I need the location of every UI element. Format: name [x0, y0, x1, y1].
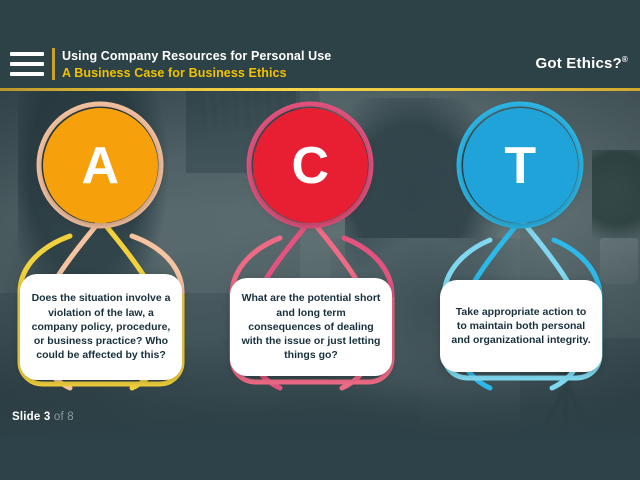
- hamburger-bar-2: [10, 62, 44, 66]
- act-callout-text-ask: Does the situation involve a violation o…: [31, 291, 171, 362]
- header-divider: [52, 48, 55, 80]
- header-bar: Using Company Resources for Personal Use…: [0, 0, 640, 88]
- act-pin-ask[interactable]: A Does the situation involve a violation…: [8, 96, 208, 406]
- act-letter-circle-a: A: [43, 108, 158, 223]
- progress-line: [0, 88, 640, 91]
- hamburger-bar-1: [10, 52, 44, 56]
- slide-current: Slide 3: [12, 411, 50, 423]
- act-callout-ask: Does the situation involve a violation o…: [20, 274, 182, 380]
- page-subtitle: A Business Case for Business Ethics: [62, 65, 331, 81]
- brand-logo: Got Ethics?®: [536, 55, 628, 72]
- slide-canvas: A Does the situation involve a violation…: [0, 0, 640, 480]
- act-callout-text-consider: What are the potential short and long te…: [241, 291, 381, 362]
- slide-total-value: of 8: [54, 411, 74, 423]
- registered-trademark-icon: ®: [622, 55, 628, 64]
- slide-counter: Slide 3 of 8: [12, 411, 74, 423]
- footer-bar: [0, 442, 640, 480]
- act-callout-consider: What are the potential short and long te…: [230, 278, 392, 376]
- act-callout-take-action: Take appropriate action to to maintain b…: [440, 280, 602, 372]
- act-letter-t: T: [504, 140, 536, 192]
- act-letter-circle-t: T: [463, 108, 578, 223]
- act-callout-text-take-action: Take appropriate action to to maintain b…: [451, 305, 591, 348]
- page-title: Using Company Resources for Personal Use: [62, 48, 331, 64]
- act-letter-c: C: [291, 140, 329, 192]
- header-text-group: Using Company Resources for Personal Use…: [62, 48, 331, 81]
- act-letter-circle-c: C: [253, 108, 368, 223]
- hamburger-bar-3: [10, 72, 44, 76]
- hamburger-menu-icon[interactable]: [10, 52, 44, 76]
- brand-name: Got Ethics?: [536, 55, 622, 72]
- act-pin-take-action[interactable]: T Take appropriate action to to maintain…: [428, 96, 628, 406]
- act-letter-a: A: [81, 140, 119, 192]
- act-pin-consider[interactable]: C What are the potential short and long …: [218, 96, 418, 406]
